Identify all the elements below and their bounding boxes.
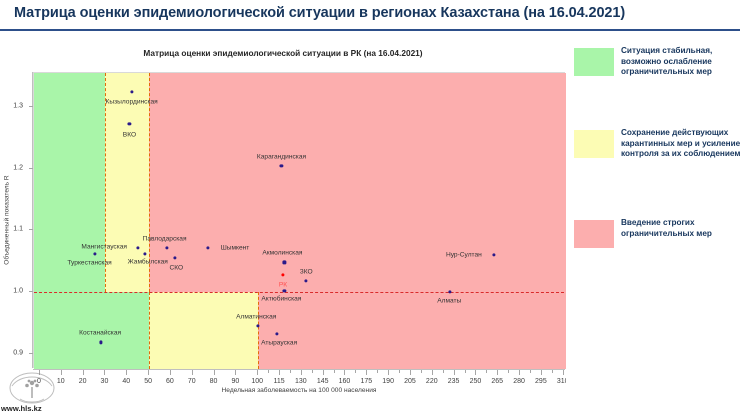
data-point-label: Нур-Султан — [446, 251, 482, 258]
x-axis-tick — [497, 370, 498, 375]
x-axis-tick — [148, 370, 149, 375]
x-axis-tick-label: 250 — [470, 378, 482, 385]
legend-swatch — [574, 48, 614, 76]
x-axis-tick — [104, 370, 105, 375]
x-axis-tick — [301, 370, 302, 375]
data-point-label: Мангистауская — [81, 243, 127, 250]
data-point-label: Костанайская — [79, 330, 121, 337]
x-axis-minor-tick — [355, 370, 356, 373]
x-axis-minor-tick — [312, 370, 313, 373]
zone-boundary-vertical — [258, 292, 259, 369]
slide-root: Матрица оценки эпидемиологической ситуац… — [0, 0, 740, 417]
slide-header: Матрица оценки эпидемиологической ситуац… — [0, 0, 740, 31]
x-axis-tick-label: 40 — [122, 378, 130, 385]
legend: Ситуация стабильная, возможно ослабление… — [566, 34, 740, 417]
chart-title: Матрица оценки эпидемиологической ситуац… — [0, 48, 566, 58]
x-axis-tick-label: 235 — [448, 378, 460, 385]
x-axis-minor-tick — [508, 370, 509, 373]
x-axis-tick — [235, 370, 236, 375]
x-axis-tick-label: 130 — [295, 378, 307, 385]
x-axis-tick — [214, 370, 215, 375]
legend-label: Введение строгих ограничительных мер — [621, 218, 740, 239]
page-title: Матрица оценки эпидемиологической ситуац… — [14, 5, 625, 21]
x-axis-minor-tick — [268, 370, 269, 373]
x-axis-tick — [475, 370, 476, 375]
data-point-label: ЗКО — [300, 268, 313, 275]
x-axis-tick — [366, 370, 367, 375]
zone-boundary-vertical — [149, 292, 150, 369]
x-axis-tick-label: 295 — [535, 378, 547, 385]
data-point-label: Алматы — [437, 297, 461, 304]
data-point-label: Кызылординская — [106, 98, 158, 105]
x-axis-title: Недельная заболеваемость на 100 000 насе… — [33, 387, 565, 394]
x-axis-tick — [83, 370, 84, 375]
data-point-label: Актюбинская — [261, 295, 301, 302]
x-axis-minor-tick — [377, 370, 378, 373]
x-axis-minor-tick — [530, 370, 531, 373]
y-axis-tick-label: 1.1 — [13, 226, 23, 233]
x-axis-tick — [279, 370, 280, 375]
x-axis-minor-tick — [290, 370, 291, 373]
zone-rect — [149, 292, 258, 369]
x-axis-tick — [541, 370, 542, 375]
x-axis-tick — [323, 370, 324, 375]
x-axis-tick-label: 70 — [188, 378, 196, 385]
x-axis-tick-label: 30 — [101, 378, 109, 385]
x-axis-tick — [344, 370, 345, 375]
x-axis-tick-label: 205 — [404, 378, 416, 385]
data-point-label: Карагандинская — [257, 153, 306, 160]
data-point-label: Алматинская — [236, 313, 276, 320]
x-axis-minor-tick — [486, 370, 487, 373]
x-axis-tick — [410, 370, 411, 375]
y-axis-tick-label: 0.9 — [13, 349, 23, 356]
x-axis-tick — [519, 370, 520, 375]
legend-item: Сохранение действующих карантинных мер и… — [574, 130, 740, 190]
x-axis-tick-label: 175 — [360, 378, 372, 385]
legend-label: Сохранение действующих карантинных мер и… — [621, 128, 740, 160]
zone-rect — [258, 292, 566, 369]
x-axis-tick — [454, 370, 455, 375]
x-axis-minor-tick — [552, 370, 553, 373]
x-axis-tick-label: 160 — [339, 378, 351, 385]
x-axis-minor-tick — [421, 370, 422, 373]
data-point-label: Шымкент — [221, 244, 250, 251]
y-axis-tick-label: 1.0 — [13, 287, 23, 294]
x-axis-minor-tick — [465, 370, 466, 373]
x-axis-tick-label: 80 — [210, 378, 218, 385]
legend-label: Ситуация стабильная, возможно ослабление… — [621, 46, 740, 78]
plot-area: КызылординскаяВКОКарагандинскаяМангистау… — [33, 72, 565, 368]
r-threshold-line — [34, 292, 564, 293]
legend-swatch — [574, 130, 614, 158]
x-axis-tick-label: 90 — [231, 378, 239, 385]
x-axis-tick — [170, 370, 171, 375]
x-axis-tick-label: 115 — [273, 378, 284, 385]
x-axis-tick-label: 50 — [144, 378, 152, 385]
x-axis-minor-tick — [334, 370, 335, 373]
x-axis-minor-tick — [399, 370, 400, 373]
x-axis-tick — [563, 370, 564, 375]
legend-item: Ситуация стабильная, возможно ослабление… — [574, 48, 740, 108]
legend-swatch — [574, 220, 614, 248]
y-axis-tick-label: 1.2 — [13, 164, 23, 171]
data-point-label: Жамбылская — [128, 258, 168, 265]
tree-emblem-icon — [8, 372, 56, 405]
x-axis-tick — [432, 370, 433, 375]
zone-rect — [149, 73, 566, 292]
data-point-label: ВКО — [123, 132, 136, 139]
data-point-label: Туркестанская — [67, 259, 111, 266]
x-axis-tick — [388, 370, 389, 375]
data-point-label: Атырауская — [261, 339, 297, 346]
data-point-label: СКО — [169, 265, 183, 272]
y-axis-tick-label: 1.3 — [13, 102, 23, 109]
data-point-label: Павлодарская — [143, 235, 187, 242]
x-axis-tick — [257, 370, 258, 375]
chart-panel: Матрица оценки эпидемиологической ситуац… — [0, 34, 566, 417]
x-axis-tick-label: 220 — [426, 378, 438, 385]
y-axis-title-label: Объединенный показатель R — [4, 175, 11, 264]
footer-url: www.hls.kz — [1, 404, 42, 413]
x-axis-tick-label: 280 — [513, 378, 525, 385]
x-axis-tick — [192, 370, 193, 375]
data-point-label: Акмолинская — [262, 250, 302, 257]
x-axis-tick-label: 60 — [166, 378, 174, 385]
x-axis-tick-label: 100 — [251, 378, 263, 385]
x-axis-tick-label: 20 — [79, 378, 87, 385]
x-axis-tick — [126, 370, 127, 375]
legend-item: Введение строгих ограничительных мер — [574, 220, 740, 280]
y-axis-title: Объединенный показатель R — [0, 72, 14, 368]
data-point-label: РК — [279, 281, 287, 288]
x-axis-tick-label: 145 — [317, 378, 329, 385]
x-axis-tick-label: 265 — [491, 378, 503, 385]
x-axis-tick-label: 190 — [382, 378, 394, 385]
x-axis: 0102030405060708090100115130145160175190… — [33, 369, 565, 375]
x-axis-minor-tick — [443, 370, 444, 373]
